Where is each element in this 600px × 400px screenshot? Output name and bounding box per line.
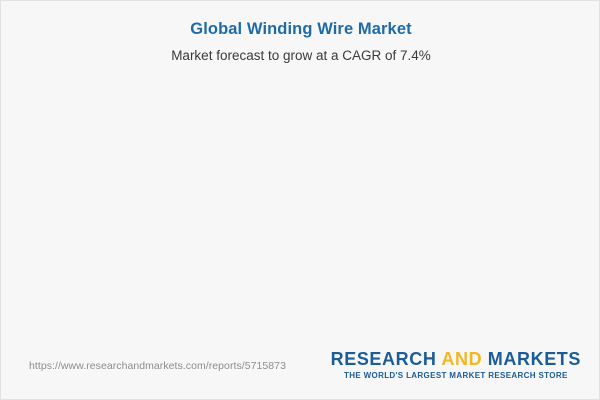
- brand-word-research: RESEARCH: [331, 349, 437, 369]
- chart-footer: https://www.researchandmarkets.com/repor…: [1, 344, 600, 399]
- brand-word-and: AND: [441, 349, 482, 369]
- brand-logo[interactable]: RESEARCH AND MARKETS THE WORLD'S LARGEST…: [331, 349, 581, 380]
- plot-area: USD 13.89 Billion 2023 USD 23.02 Billion…: [1, 1, 600, 346]
- source-url-link[interactable]: https://www.researchandmarkets.com/repor…: [29, 360, 286, 372]
- market-forecast-chart-card: Global Winding Wire Market Market foreca…: [0, 0, 600, 400]
- brand-word-markets: MARKETS: [488, 349, 581, 369]
- brand-wordmark: RESEARCH AND MARKETS: [331, 349, 581, 369]
- brand-tagline: THE WORLD'S LARGEST MARKET RESEARCH STOR…: [331, 371, 581, 380]
